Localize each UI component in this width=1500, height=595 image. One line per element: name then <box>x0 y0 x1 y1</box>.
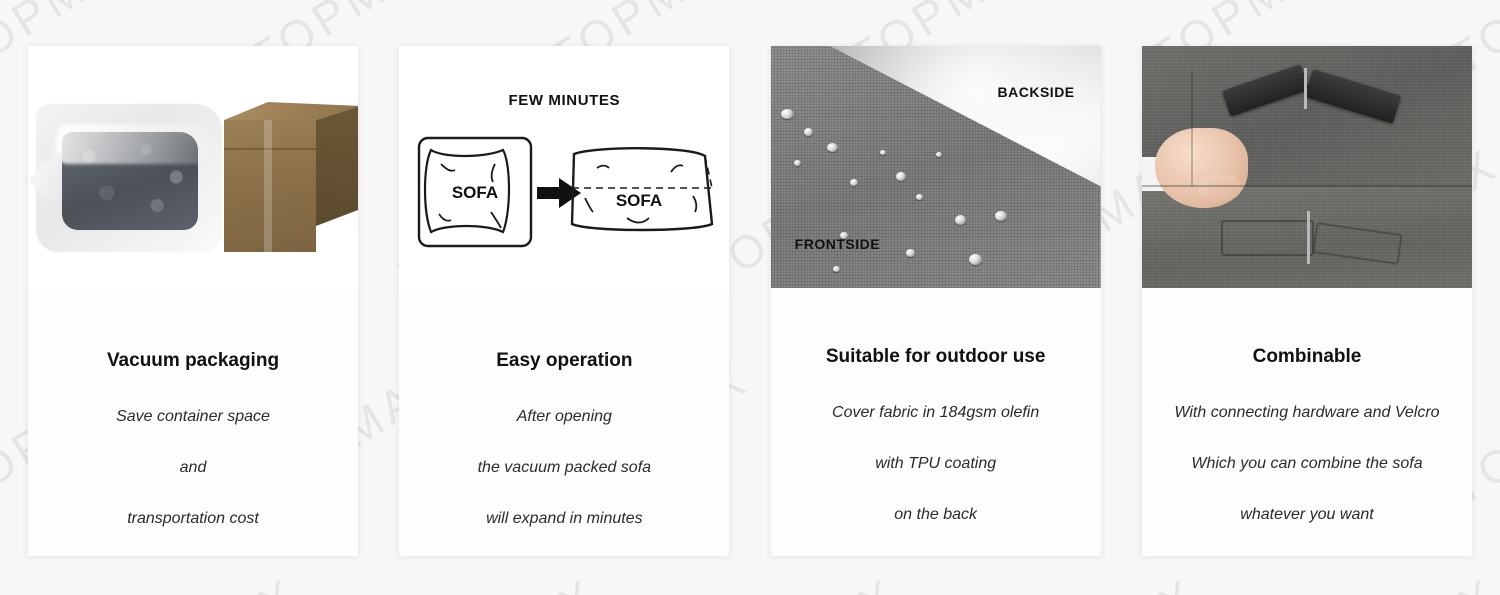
frontside-label: FRONTSIDE <box>795 236 880 252</box>
watermark-text: TOPMAX <box>1290 567 1500 595</box>
card-line-3: whatever you want <box>1240 505 1373 524</box>
expanded-crease-5 <box>627 218 649 223</box>
water-bead <box>880 150 886 155</box>
crease-mark-2 <box>492 164 495 182</box>
expanded-sofa-label: SOFA <box>616 191 662 210</box>
backside-label: BACKSIDE <box>998 84 1075 100</box>
card-line-3: will expand in minutes <box>486 509 643 528</box>
diagram-heading: FEW MINUTES <box>399 92 729 109</box>
crease-mark-4 <box>491 212 501 228</box>
right-arrow-icon <box>537 178 581 208</box>
water-bead <box>969 254 982 265</box>
card-line-1: With connecting hardware and Velcro <box>1174 403 1439 422</box>
packed-sofa-label: SOFA <box>452 183 498 202</box>
feature-card-row: Vacuum packaging Save container space an… <box>28 46 1472 556</box>
water-bead <box>916 194 923 200</box>
carton-side-face <box>316 106 358 226</box>
sofa-expansion-svg: SOFA SOFA <box>399 46 729 292</box>
cardboard-carton-box <box>224 102 358 252</box>
expanded-sofa-outline <box>572 148 712 230</box>
vacuum-packed-sofa-and-carton-photo <box>28 46 358 292</box>
expanded-crease-3 <box>585 198 593 212</box>
card-title: Combinable <box>1253 346 1362 369</box>
card-media-outdoor-use: BACKSIDE FRONTSIDE <box>771 46 1101 288</box>
water-bead <box>827 143 838 152</box>
water-bead <box>781 109 794 119</box>
watermark-text: TOPMAX <box>990 567 1208 595</box>
crease-mark-1 <box>441 164 455 171</box>
carton-strap-tape <box>264 120 272 252</box>
feature-card-easy-operation[interactable]: FEW MINUTES SOFA <box>399 46 729 556</box>
watermark-text: TOPMAX <box>0 137 8 301</box>
plastic-sheen-highlight <box>56 124 206 164</box>
velcro-connector-photo <box>1142 46 1472 288</box>
crease-mark-3 <box>439 214 451 221</box>
feature-card-outdoor-use[interactable]: BACKSIDE FRONTSIDE Suitable for outdoor … <box>771 46 1101 556</box>
expanded-crease-1 <box>597 166 609 168</box>
card-body-outdoor-use: Suitable for outdoor use Cover fabric in… <box>771 288 1101 556</box>
expanded-crease-2 <box>671 165 683 172</box>
card-body-combinable: Combinable With connecting hardware and … <box>1142 288 1472 556</box>
expanded-crease-4 <box>693 196 696 212</box>
metal-connector-bottom <box>1307 211 1310 264</box>
water-bead <box>804 128 813 136</box>
card-title: Vacuum packaging <box>107 350 279 373</box>
water-bead <box>896 172 906 181</box>
water-bead <box>995 211 1007 221</box>
card-media-easy-operation: FEW MINUTES SOFA <box>399 46 729 292</box>
card-title: Easy operation <box>496 350 632 373</box>
card-line-3: on the back <box>894 505 977 524</box>
card-line-1: After opening <box>517 407 612 426</box>
thumb <box>1198 174 1241 201</box>
sofa-expansion-diagram: FEW MINUTES SOFA <box>399 46 729 292</box>
card-media-combinable <box>1142 46 1472 288</box>
card-line-3: transportation cost <box>127 509 259 528</box>
card-body-vacuum-packaging: Vacuum packaging Save container space an… <box>28 292 358 556</box>
card-title: Suitable for outdoor use <box>826 346 1046 369</box>
upper-panel-edge-seam <box>1191 70 1193 186</box>
card-line-1: Cover fabric in 184gsm olefin <box>832 403 1039 422</box>
water-bead <box>794 160 801 166</box>
lower-strap-outline <box>1221 220 1314 255</box>
waterproof-fabric-front-back-photo: BACKSIDE FRONTSIDE <box>771 46 1101 288</box>
watermark-text: TOPMAX <box>0 567 8 595</box>
feature-card-combinable[interactable]: Combinable With connecting hardware and … <box>1142 46 1472 556</box>
watermark-text: TOPMAX <box>90 567 308 595</box>
card-line-2: Which you can combine the sofa <box>1191 454 1422 473</box>
water-bead <box>850 179 858 186</box>
metal-connector-top <box>1304 68 1307 109</box>
card-line-1: Save container space <box>116 407 270 426</box>
card-media-vacuum-packaging <box>28 46 358 292</box>
watermark-text: TOPMAX <box>690 567 908 595</box>
feature-card-vacuum-packaging[interactable]: Vacuum packaging Save container space an… <box>28 46 358 556</box>
card-line-2: and <box>180 458 207 477</box>
watermark-text: TOPMAX <box>390 567 608 595</box>
plastic-wrapped-compressed-sofa <box>50 118 208 238</box>
card-line-2: with TPU coating <box>875 454 996 473</box>
card-body-easy-operation: Easy operation After opening the vacuum … <box>399 292 729 556</box>
card-line-2: the vacuum packed sofa <box>478 458 651 477</box>
